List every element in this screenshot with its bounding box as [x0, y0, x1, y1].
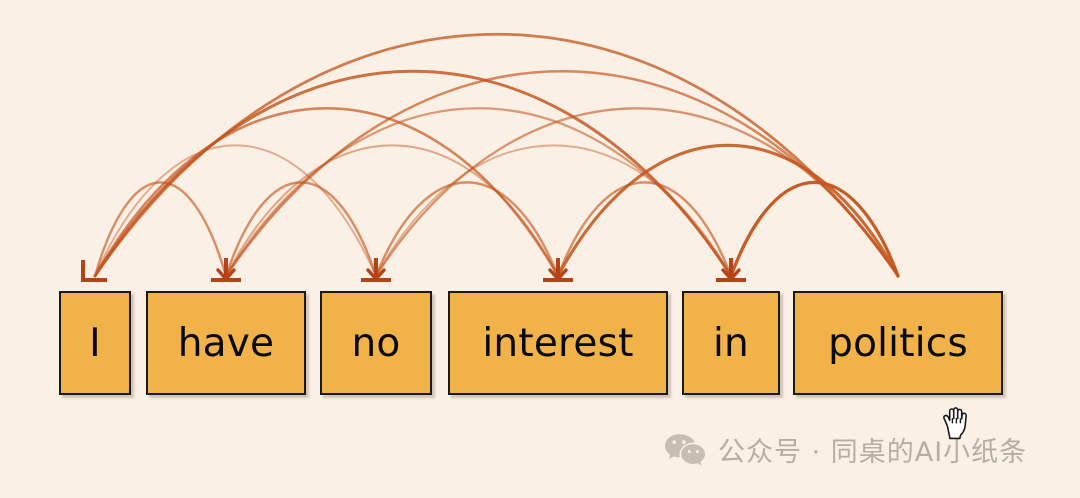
- token-label: I: [89, 324, 101, 363]
- token-box-2[interactable]: no: [320, 291, 432, 395]
- token-label: no: [352, 324, 401, 363]
- token-sequence: I have no interest in politics: [0, 0, 1080, 498]
- token-box-1[interactable]: have: [146, 291, 306, 395]
- diagram-canvas: I have no interest in politics: [0, 0, 1080, 498]
- token-label: in: [713, 324, 749, 363]
- token-label: have: [178, 324, 275, 363]
- token-box-3[interactable]: interest: [448, 291, 668, 395]
- grab-hand-cursor-icon: [941, 407, 973, 441]
- token-label: interest: [482, 324, 633, 363]
- token-box-5[interactable]: politics: [793, 291, 1003, 395]
- token-label: politics: [828, 324, 968, 363]
- token-box-0[interactable]: I: [59, 291, 131, 395]
- token-box-4[interactable]: in: [682, 291, 780, 395]
